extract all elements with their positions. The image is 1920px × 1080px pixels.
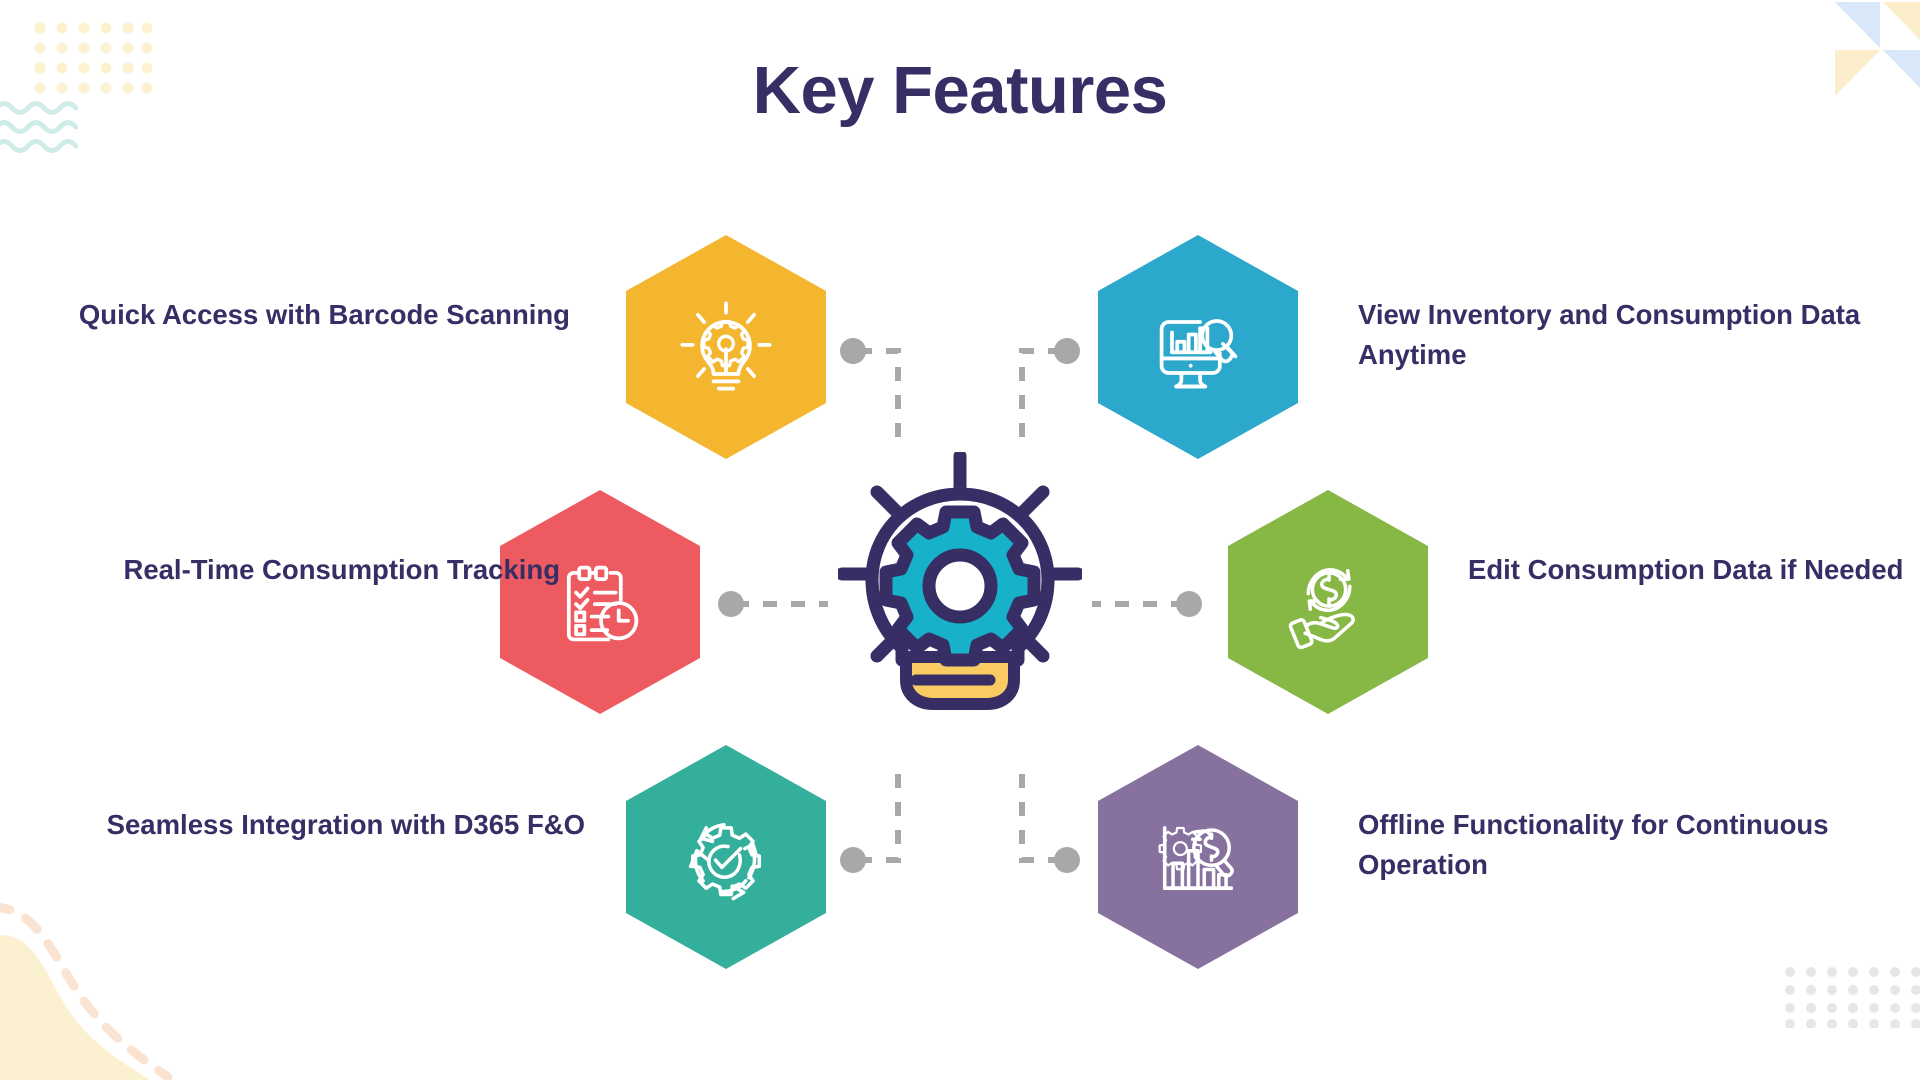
ray-upper-left [877,492,899,514]
bar-chart-dollar-search-icon [1146,805,1250,909]
gear-check-cycle-icon [674,805,778,909]
ray-upper-right [1021,492,1043,514]
hand-dollar-refresh-icon [1276,550,1380,654]
feature-label-real-time-consumption-tracking: Real-Time Consumption Tracking [10,550,560,590]
connector-dot-middle-right [1176,591,1202,617]
center-lightbulb-gear-illustration [838,452,1082,710]
connector-dot-top-right [1054,338,1080,364]
center-gear [886,512,1034,660]
feature-label-edit-consumption-data: Edit Consumption Data if Needed [1468,550,1908,590]
feature-label-quick-access-barcode-scanning: Quick Access with Barcode Scanning [60,295,570,335]
monitor-chart-search-icon [1146,295,1250,399]
connector-top-left [858,351,898,447]
feature-label-view-inventory-consumption: View Inventory and Consumption Data Anyt… [1358,295,1878,375]
feature-label-seamless-integration-d365: Seamless Integration with D365 F&O [0,805,585,845]
connector-bottom-right [1022,762,1062,860]
checklist-clock-icon [548,550,652,654]
connector-dot-bottom-right [1054,847,1080,873]
connector-top-right [1022,351,1062,447]
connector-dot-top-left [840,338,866,364]
connector-bottom-left [858,762,898,860]
connector-dot-middle-left [718,591,744,617]
feature-label-offline-functionality: Offline Functionality for Continuous Ope… [1358,805,1858,885]
connector-dot-bottom-left [840,847,866,873]
infographic-canvas: Key Features [0,0,1920,1080]
lightbulb-gear-icon [674,295,778,399]
